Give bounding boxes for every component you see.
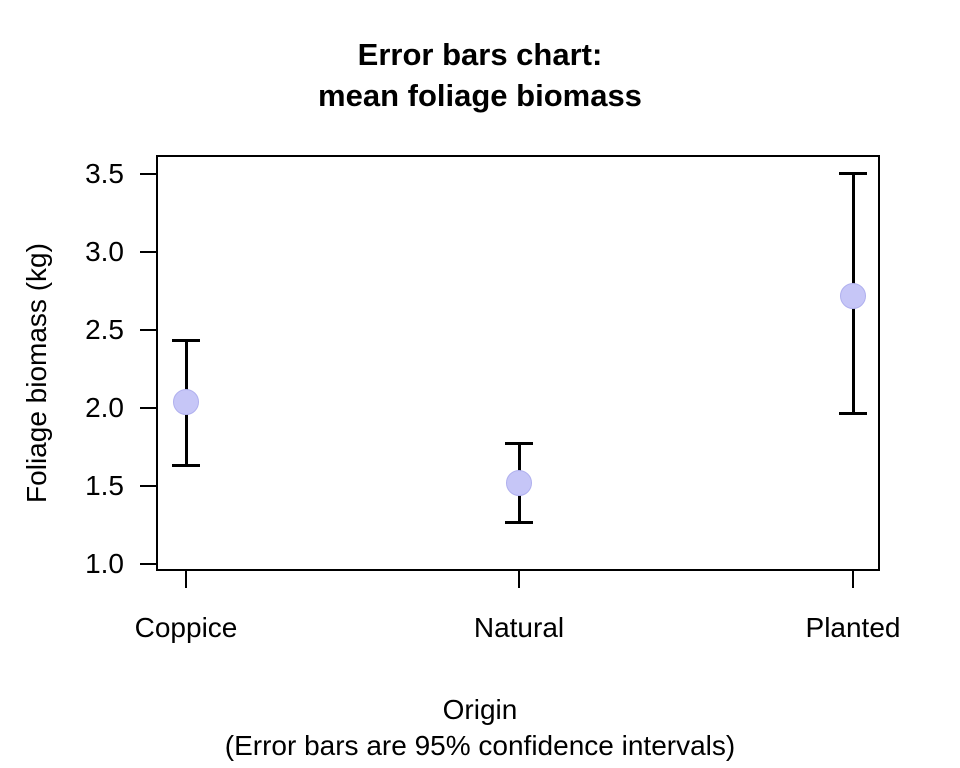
- x-tick-mark-planted: [852, 571, 854, 588]
- y-tick-label-1-0: 1.0: [4, 550, 124, 578]
- y-tick-mark-2-5: [140, 329, 156, 331]
- chart-title-line-2: mean foliage biomass: [0, 75, 960, 116]
- data-point-natural: [506, 470, 532, 496]
- y-tick-mark-3-5: [140, 173, 156, 175]
- data-point-planted: [840, 283, 866, 309]
- y-axis-title: Foliage biomass (kg): [22, 193, 52, 553]
- x-tick-label-coppice: Coppice: [56, 612, 316, 644]
- error-cap-lower-natural: [505, 521, 533, 524]
- x-tick-mark-coppice: [185, 571, 187, 588]
- error-bar-chart: Error bars chart: mean foliage biomass 3…: [0, 0, 960, 768]
- x-axis-title: Origin: [0, 692, 960, 728]
- x-axis-subtitle: (Error bars are 95% confidence intervals…: [0, 730, 960, 762]
- error-cap-lower-coppice: [172, 464, 200, 467]
- chart-title-line-1: Error bars chart:: [358, 37, 603, 72]
- x-tick-mark-natural: [518, 571, 520, 588]
- y-tick-mark-2-0: [140, 407, 156, 409]
- x-tick-label-natural: Natural: [389, 612, 649, 644]
- plot-data-layer: [156, 155, 880, 571]
- error-cap-lower-planted: [839, 412, 867, 415]
- data-point-coppice: [173, 389, 199, 415]
- y-tick-mark-1-0: [140, 563, 156, 565]
- y-tick-label-3-5: 3.5: [4, 160, 124, 188]
- y-tick-mark-3-0: [140, 251, 156, 253]
- chart-title: Error bars chart: mean foliage biomass: [0, 34, 960, 116]
- x-tick-label-planted: Planted: [723, 612, 960, 644]
- y-tick-mark-1-5: [140, 485, 156, 487]
